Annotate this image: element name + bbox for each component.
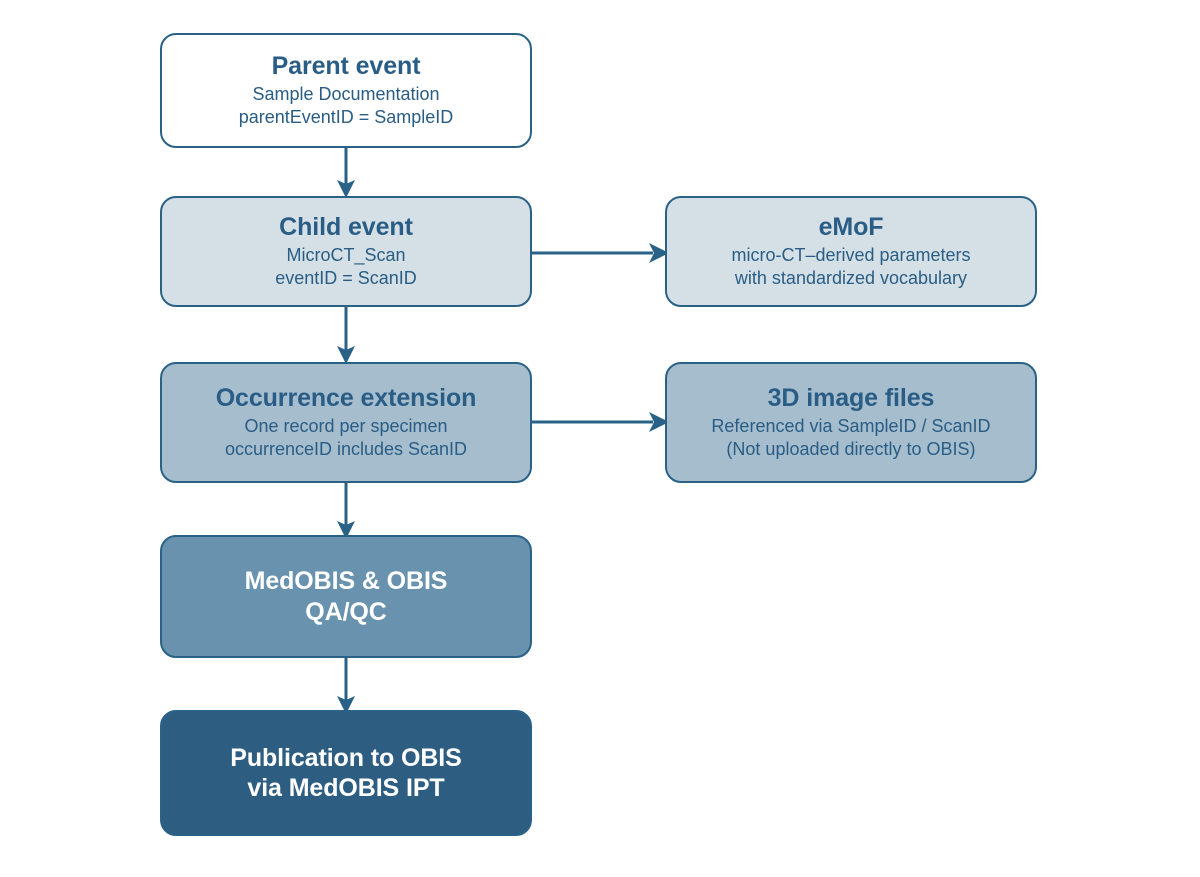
node-image-files-subtitle: Referenced via SampleID / ScanID (Not up…: [711, 415, 990, 461]
node-child-event-subline-1: MicroCT_Scan: [275, 244, 417, 267]
node-emof-subline-1: micro-CT–derived parameters: [731, 244, 970, 267]
node-child-event-subtitle: MicroCT_Scan eventID = ScanID: [275, 244, 417, 290]
node-image-files-subline-2: (Not uploaded directly to OBIS): [711, 438, 990, 461]
connector-child-to-emof: [525, 238, 675, 268]
node-emof[interactable]: eMoF micro-CT–derived parameters with st…: [665, 196, 1037, 307]
node-qa-qc-title-line-2: QA/QC: [245, 597, 448, 628]
node-occurrence-extension-subtitle: One record per specimen occurrenceID inc…: [225, 415, 467, 461]
node-publication-title-line-2: via MedOBIS IPT: [230, 773, 461, 804]
node-parent-event-subline-1: Sample Documentation: [239, 83, 454, 106]
node-publication-title: Publication to OBIS via MedOBIS IPT: [230, 743, 461, 804]
flowchart-canvas: Parent event Sample Documentation parent…: [0, 0, 1200, 877]
node-qa-qc-title: MedOBIS & OBIS QA/QC: [245, 566, 448, 627]
node-occurrence-extension-subline-2: occurrenceID includes ScanID: [225, 438, 467, 461]
node-parent-event-subtitle: Sample Documentation parentEventID = Sam…: [239, 83, 454, 129]
node-image-files-title: 3D image files: [768, 384, 935, 412]
node-qa-qc-title-line-1: MedOBIS & OBIS: [245, 566, 448, 597]
node-image-files-subline-1: Referenced via SampleID / ScanID: [711, 415, 990, 438]
node-image-files[interactable]: 3D image files Referenced via SampleID /…: [665, 362, 1037, 483]
node-occurrence-extension-title: Occurrence extension: [216, 384, 477, 412]
node-parent-event-title: Parent event: [272, 52, 421, 80]
node-occurrence-extension-subline-1: One record per specimen: [225, 415, 467, 438]
connector-occurrence-to-image-files: [525, 407, 675, 437]
connector-parent-to-child: [326, 140, 366, 202]
node-emof-title: eMoF: [819, 213, 884, 241]
node-occurrence-extension[interactable]: Occurrence extension One record per spec…: [160, 362, 532, 483]
connector-occurrence-to-qaqc: [326, 477, 366, 543]
node-child-event-subline-2: eventID = ScanID: [275, 267, 417, 290]
node-child-event-title: Child event: [279, 213, 413, 241]
node-parent-event[interactable]: Parent event Sample Documentation parent…: [160, 33, 532, 148]
connector-qaqc-to-publication: [326, 652, 366, 718]
node-parent-event-subline-2: parentEventID = SampleID: [239, 106, 454, 129]
node-emof-subtitle: micro-CT–derived parameters with standar…: [731, 244, 970, 290]
connector-child-to-occurrence: [326, 300, 366, 368]
node-child-event[interactable]: Child event MicroCT_Scan eventID = ScanI…: [160, 196, 532, 307]
node-emof-subline-2: with standardized vocabulary: [731, 267, 970, 290]
node-publication-title-line-1: Publication to OBIS: [230, 743, 461, 774]
node-qa-qc[interactable]: MedOBIS & OBIS QA/QC: [160, 535, 532, 658]
node-publication[interactable]: Publication to OBIS via MedOBIS IPT: [160, 710, 532, 836]
